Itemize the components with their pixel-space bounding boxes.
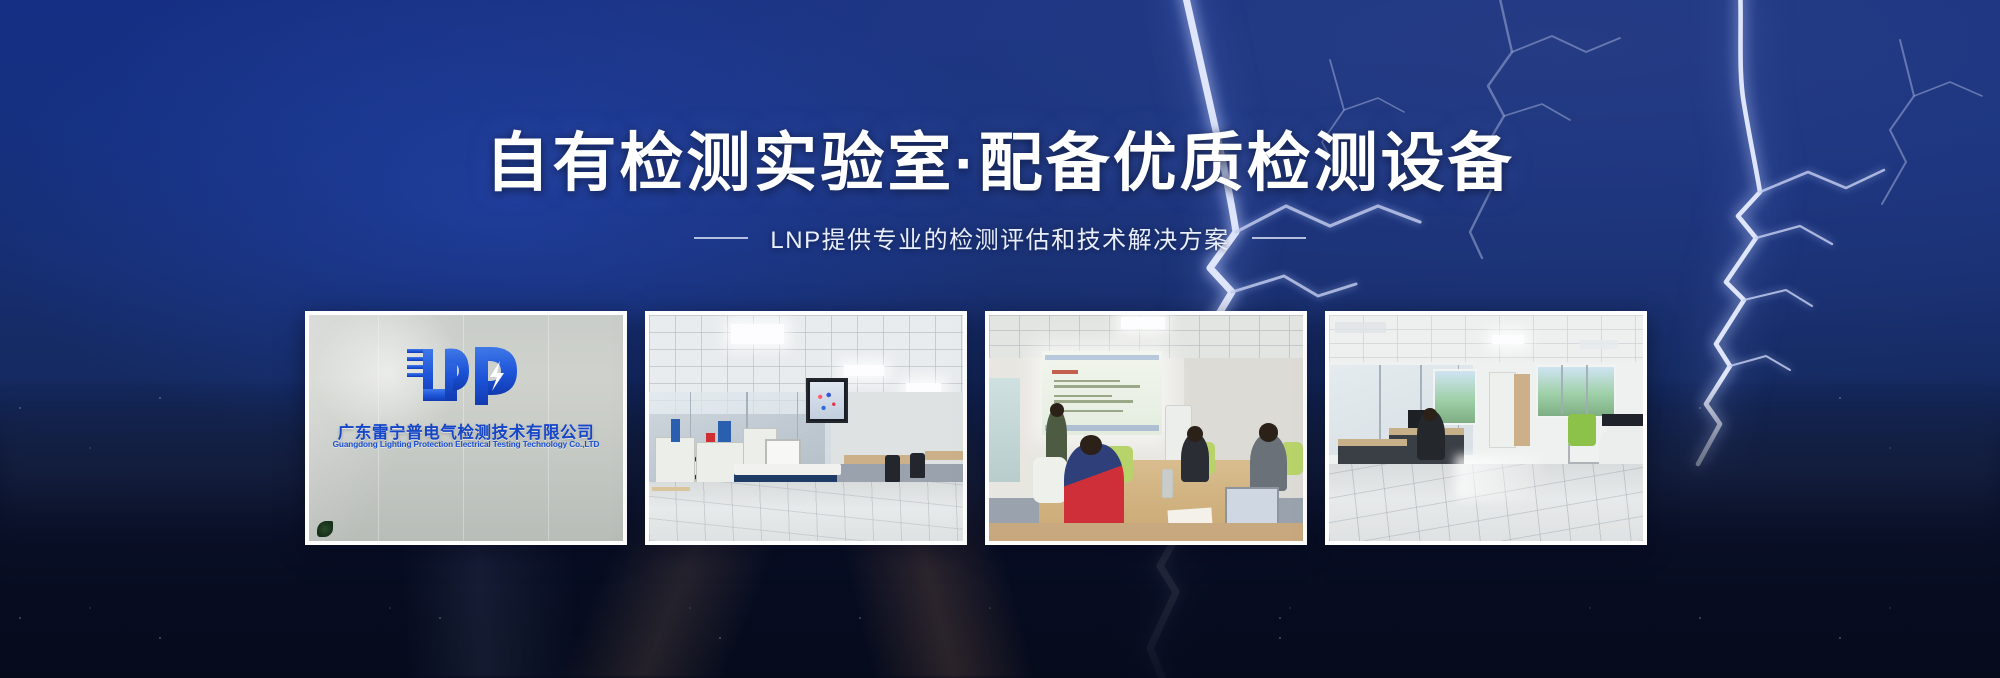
wall-monitor xyxy=(806,378,848,423)
counter-top xyxy=(1602,414,1643,425)
chair-frame xyxy=(1568,444,1601,464)
test-column xyxy=(671,419,680,442)
slide-line xyxy=(1054,410,1123,413)
slide-line xyxy=(1054,380,1120,383)
slide-window-bar xyxy=(1045,355,1160,361)
sample-stand xyxy=(652,487,690,492)
page-title: 自有检测实验室·配备优质检测设备 xyxy=(0,128,2000,198)
floor xyxy=(989,523,1303,541)
slide-line xyxy=(1054,395,1111,398)
ceiling-light xyxy=(731,324,784,344)
window xyxy=(1536,365,1615,419)
ceiling-light xyxy=(1121,317,1165,328)
thermos-bottle xyxy=(1162,469,1173,498)
window-mullion xyxy=(1586,365,1588,415)
office-chair xyxy=(885,455,901,482)
rule-left-icon xyxy=(694,237,748,239)
photo-image xyxy=(1329,315,1643,541)
bookshelf xyxy=(1514,374,1530,446)
photo-image: 广东雷宁普电气检测技术有限公司 Guangdong Lighting Prote… xyxy=(309,315,623,541)
ceiling-vent xyxy=(1335,322,1385,333)
attendee-head xyxy=(1080,435,1102,455)
company-name-en: Guangdong Lighting Protection Electrical… xyxy=(333,440,600,449)
visitor-chair xyxy=(1568,414,1596,446)
lnp-logo-icon xyxy=(401,341,531,415)
ceiling-vent xyxy=(1580,340,1618,349)
monitor-screen xyxy=(810,382,844,419)
gallery-photo-company-logo-wall[interactable]: 广东雷宁普电气检测技术有限公司 Guangdong Lighting Prote… xyxy=(305,311,627,545)
workstation-bench xyxy=(844,455,913,464)
gallery-photo-meeting-room[interactable] xyxy=(985,311,1307,545)
ceiling-light xyxy=(906,383,941,392)
glass-door xyxy=(989,378,1020,482)
attendee-person xyxy=(1064,444,1124,534)
slide-line xyxy=(1054,385,1140,388)
rule-right-icon xyxy=(1252,237,1306,239)
page-subtitle: LNP提供专业的检测评估和技术解决方案 xyxy=(770,220,1229,255)
floor xyxy=(649,482,963,541)
gallery-photo-office-area[interactable] xyxy=(1325,311,1647,545)
office-chair xyxy=(910,453,926,478)
attendee-head xyxy=(1187,426,1203,442)
window-mullion xyxy=(1561,365,1563,415)
attendee-head xyxy=(1259,423,1278,441)
control-desk-top xyxy=(734,464,841,475)
subtitle-row: LNP提供专业的检测评估和技术解决方案 xyxy=(0,220,2000,255)
desk-top xyxy=(1338,439,1407,446)
photo-gallery: 广东雷宁普电气检测技术有限公司 Guangdong Lighting Prote… xyxy=(305,311,1647,545)
gallery-photo-testing-laboratory[interactable] xyxy=(645,311,967,545)
hero-banner: 自有检测实验室·配备优质检测设备 LNP提供专业的检测评估和技术解决方案 xyxy=(0,0,2000,678)
floor-tiles xyxy=(649,482,963,541)
ceiling-light xyxy=(1492,335,1523,344)
slide-title xyxy=(1052,370,1078,374)
presenter-head xyxy=(1050,403,1064,417)
workstation-bench xyxy=(925,451,963,460)
meeting-chair xyxy=(1033,457,1068,502)
photo-image xyxy=(649,315,963,541)
sunlight-patch xyxy=(1455,455,1543,500)
photo-image xyxy=(989,315,1303,541)
hero-text-block: 自有检测实验室·配备优质检测设备 LNP提供专业的检测评估和技术解决方案 xyxy=(0,128,2000,255)
ceiling-light xyxy=(844,365,885,376)
slide-line xyxy=(1054,400,1133,403)
storage-cabinet xyxy=(1489,372,1516,449)
